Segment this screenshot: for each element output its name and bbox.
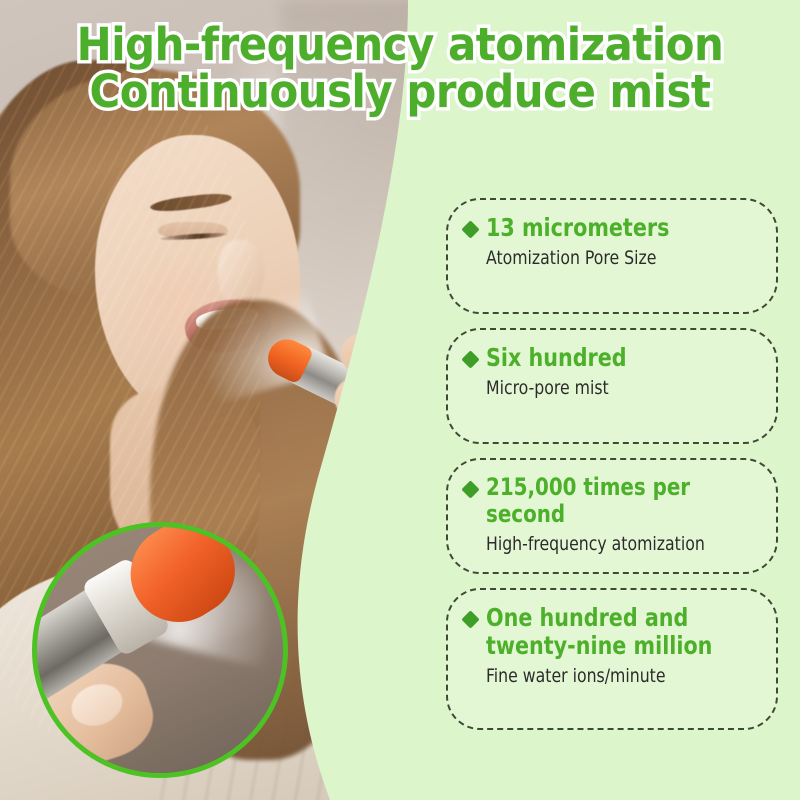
feature-title: Six hundred	[486, 344, 627, 372]
feature-card: Six hundred Micro-pore mist	[446, 328, 778, 444]
feature-card-heading: Six hundred	[464, 344, 760, 372]
feature-card-heading: One hundred and twenty-nine million	[464, 604, 760, 660]
feature-card-heading: 215,000 times per second	[464, 474, 760, 528]
feature-title: 215,000 times per second	[486, 474, 738, 528]
diamond-bullet-icon	[461, 350, 479, 368]
feature-subtitle: Atomization Pore Size	[486, 247, 738, 270]
product-infographic: High-frequency atomization Continuously …	[0, 0, 800, 800]
headline-line-1: High-frequency atomization	[28, 22, 772, 69]
diamond-bullet-icon	[461, 610, 479, 628]
feature-subtitle: High-frequency atomization	[486, 533, 738, 556]
feature-card-heading: 13 micrometers	[464, 214, 760, 242]
feature-subtitle: Fine water ions/minute	[486, 665, 738, 688]
headline-line-2: Continuously produce mist	[28, 69, 772, 116]
feature-card: One hundred and twenty-nine million Fine…	[446, 588, 778, 730]
feature-subtitle: Micro-pore mist	[486, 377, 738, 400]
diamond-bullet-icon	[461, 480, 479, 498]
closeup-inset-circle	[32, 522, 288, 778]
feature-title: One hundred and twenty-nine million	[486, 604, 712, 660]
feature-card-list: 13 micrometers Atomization Pore Size Six…	[446, 198, 778, 744]
feature-card: 215,000 times per second High-frequency …	[446, 458, 778, 574]
headline: High-frequency atomization Continuously …	[0, 22, 800, 116]
diamond-bullet-icon	[461, 220, 479, 238]
feature-card: 13 micrometers Atomization Pore Size	[446, 198, 778, 314]
feature-title: 13 micrometers	[486, 214, 669, 242]
